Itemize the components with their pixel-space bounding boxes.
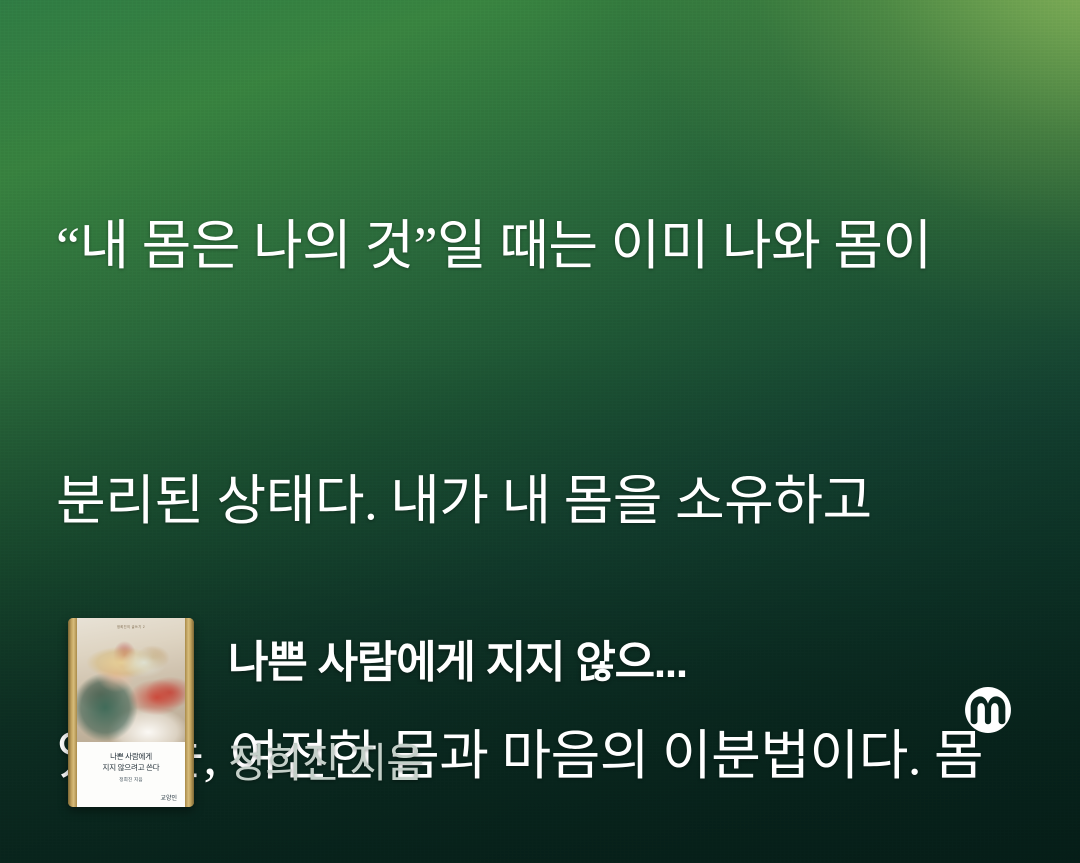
quote-line: 분리된 상태다. 내가 내 몸을 소유하고 (56, 459, 1026, 544)
book-cover-left-border (68, 618, 77, 807)
quote-line: “내 몸은 나의 것”일 때는 이미 나와 몸이 (56, 204, 1026, 289)
book-cover-title-line: 나쁜 사람에게 (77, 751, 185, 762)
millie-logo-icon (957, 679, 1019, 741)
book-cover-publisher-mark: 교양인 (160, 793, 177, 802)
book-cover-series-caption: 정희진의 글쓰기 2 (77, 624, 185, 629)
book-title[interactable]: 나쁜 사람에게 지지 않으... (228, 637, 918, 689)
book-cover-right-border (185, 618, 194, 807)
book-cover-title-line: 지지 않으려고 쓴다 (77, 762, 185, 773)
book-cover-author: 정희진 지음 (77, 777, 185, 783)
book-author: 정희진 지음 (228, 738, 918, 788)
book-cover-title-band: 나쁜 사람에게 지지 않으려고 쓴다 정희진 지음 교양인 (77, 742, 185, 807)
quote-share-card: “내 몸은 나의 것”일 때는 이미 나와 몸이 분리된 상태다. 내가 내 몸… (0, 0, 1080, 863)
book-cover-thumbnail[interactable]: 정희진의 글쓰기 2 나쁜 사람에게 지지 않으려고 쓴다 정희진 지음 교양인 (68, 618, 194, 807)
book-cover-title: 나쁜 사람에게 지지 않으려고 쓴다 (77, 751, 185, 773)
book-cover-artwork: 정희진의 글쓰기 2 (77, 618, 185, 742)
